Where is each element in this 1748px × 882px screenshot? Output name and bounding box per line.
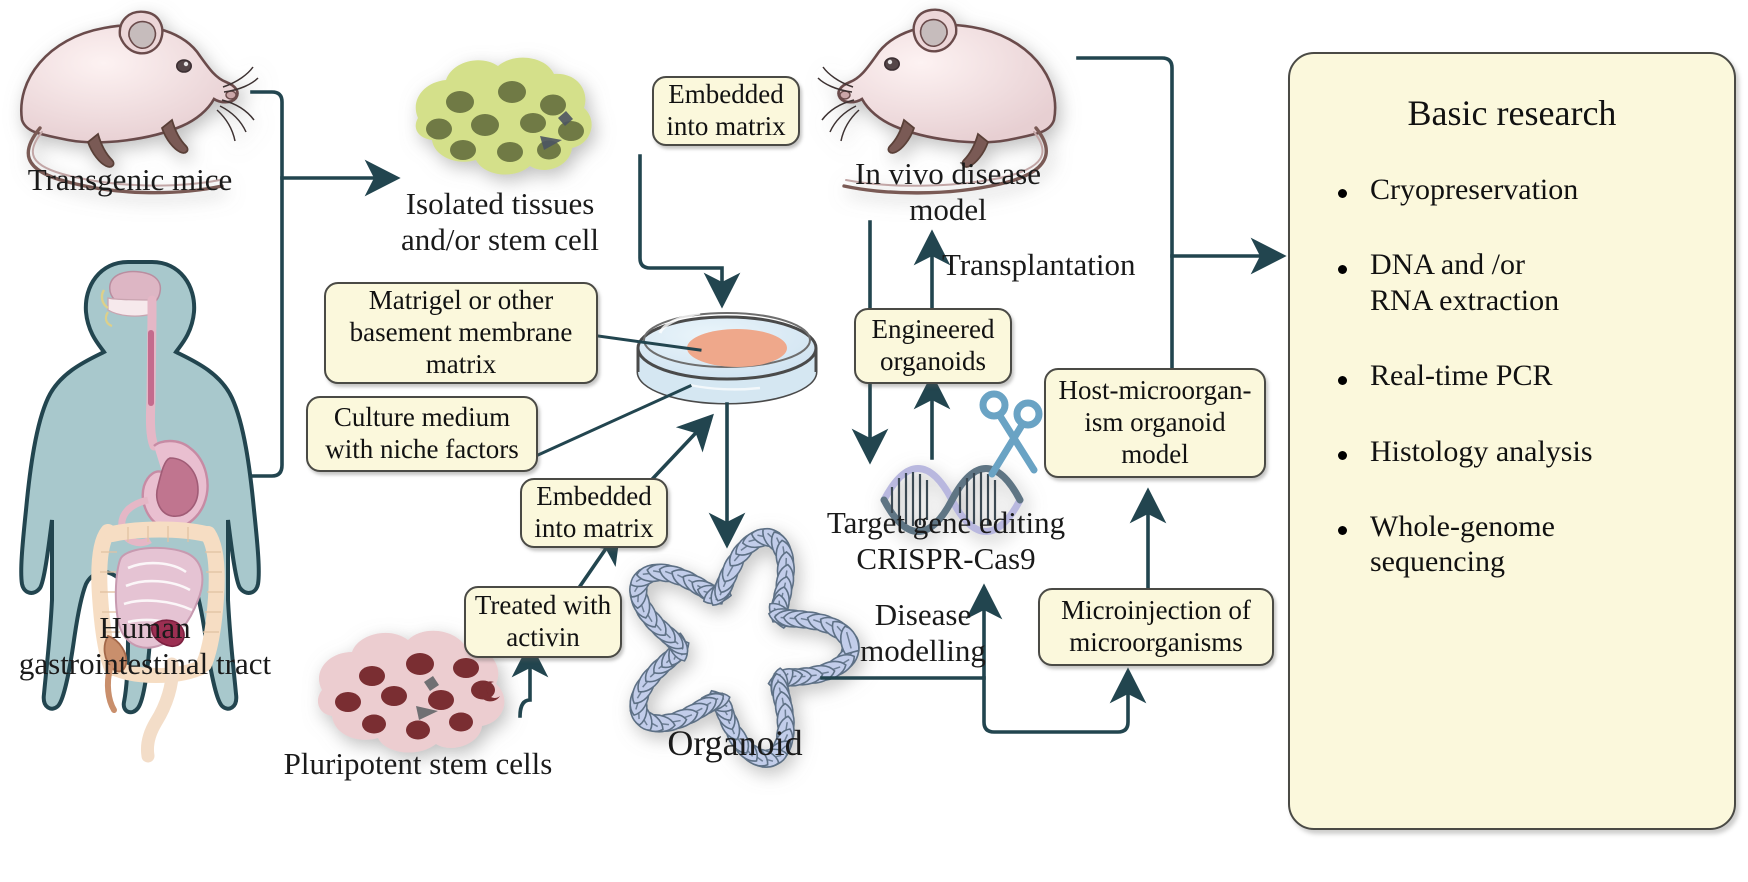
label-disease-modelling: Disease modelling <box>848 597 998 668</box>
box-host-microorganism-model[interactable]: Host-microorgan- ism organoid model <box>1044 368 1266 478</box>
label-in-vivo-disease-model: In vivo disease model <box>828 156 1068 227</box>
basic-research-panel: Basic research CryopreservationDNA and /… <box>1288 52 1736 830</box>
diagram-canvas: Transgenic mice Isolated tissues and/or … <box>0 0 1748 882</box>
edge-sources-bracket <box>252 92 282 476</box>
research-item: DNA and /or RNA extraction <box>1336 247 1734 318</box>
box-label: Culture medium with niche factors <box>316 402 528 466</box>
box-culture-medium[interactable]: Culture medium with niche factors <box>306 396 538 472</box>
box-label: Matrigel or other basement membrane matr… <box>334 285 588 381</box>
label-isolated-tissues: Isolated tissues and/or stem cell <box>370 186 630 257</box>
box-label: Embedded into matrix <box>662 79 790 143</box>
box-embedded-into-matrix-bottom[interactable]: Embedded into matrix <box>520 478 668 548</box>
box-label: Host-microorgan- ism organoid model <box>1054 375 1256 471</box>
petri-dish-icon <box>638 313 816 403</box>
box-matrigel[interactable]: Matrigel or other basement membrane matr… <box>324 282 598 384</box>
research-item: Histology analysis <box>1336 434 1734 469</box>
box-label: Embedded into matrix <box>530 481 658 545</box>
label-human-gi-tract: Human gastrointestinal tract <box>0 610 290 681</box>
panel-title: Basic research <box>1290 54 1734 134</box>
label-organoid: Organoid <box>620 723 850 764</box>
label-pluripotent-stem-cells: Pluripotent stem cells <box>268 746 568 782</box>
box-treated-with-activin[interactable]: Treated with activin <box>464 586 622 658</box>
box-label: Engineered organoids <box>864 314 1002 378</box>
box-microinjection[interactable]: Microinjection of microorganisms <box>1038 588 1274 666</box>
edge-stem-to-activin <box>520 650 530 716</box>
box-label: Microinjection of microorganisms <box>1048 595 1264 659</box>
tissue-cluster-icon <box>416 58 592 175</box>
research-item: Real-time PCR <box>1336 358 1734 393</box>
scissors-icon <box>983 394 1039 474</box>
edge-culture-callout <box>538 386 690 455</box>
box-embedded-into-matrix-top[interactable]: Embedded into matrix <box>652 76 800 146</box>
research-item: Whole-genome sequencing <box>1336 509 1734 580</box>
edge-tissue-to-dish <box>640 156 722 300</box>
human-gi-tract-icon <box>21 262 259 756</box>
label-transplantation: Transplantation <box>942 247 1172 283</box>
label-target-gene-editing: Target gene editing CRISPR-Cas9 <box>812 505 1080 576</box>
label-transgenic-mice: Transgenic mice <box>10 162 250 198</box>
research-items-list: CryopreservationDNA and /or RNA extracti… <box>1290 134 1734 580</box>
box-label: Treated with activin <box>474 590 612 654</box>
edge-bottom-to-microinjection <box>984 676 1128 732</box>
box-engineered-organoids[interactable]: Engineered organoids <box>854 308 1012 384</box>
research-item: Cryopreservation <box>1336 172 1734 207</box>
